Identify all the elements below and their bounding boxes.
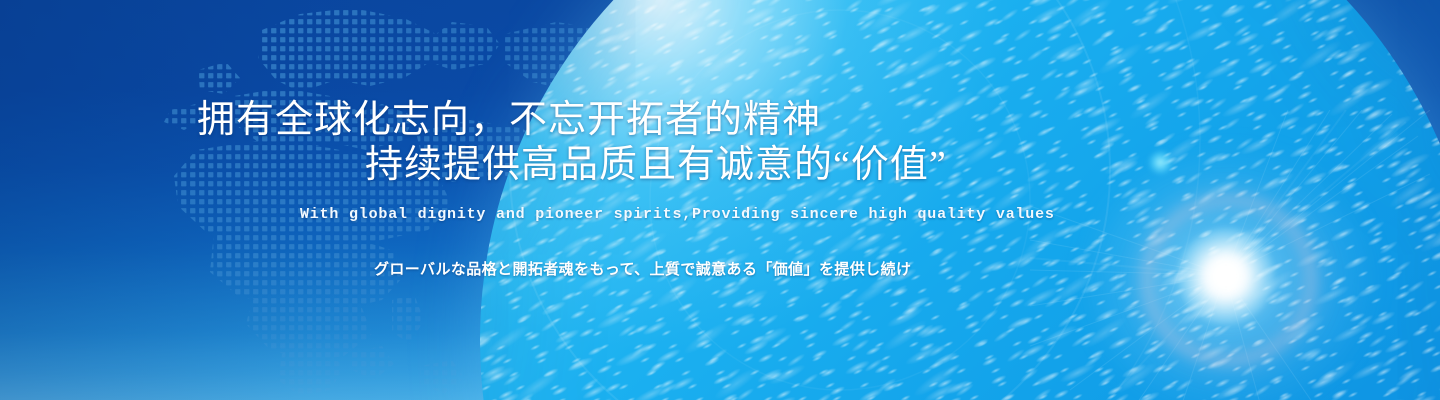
sun-core-glow — [1178, 228, 1274, 324]
hero-banner: 拥有全球化志向，不忘开拓者的精神 持续提供高品质且有诚意的“价值” With g… — [0, 0, 1440, 400]
lens-flare-orb — [1148, 150, 1173, 175]
